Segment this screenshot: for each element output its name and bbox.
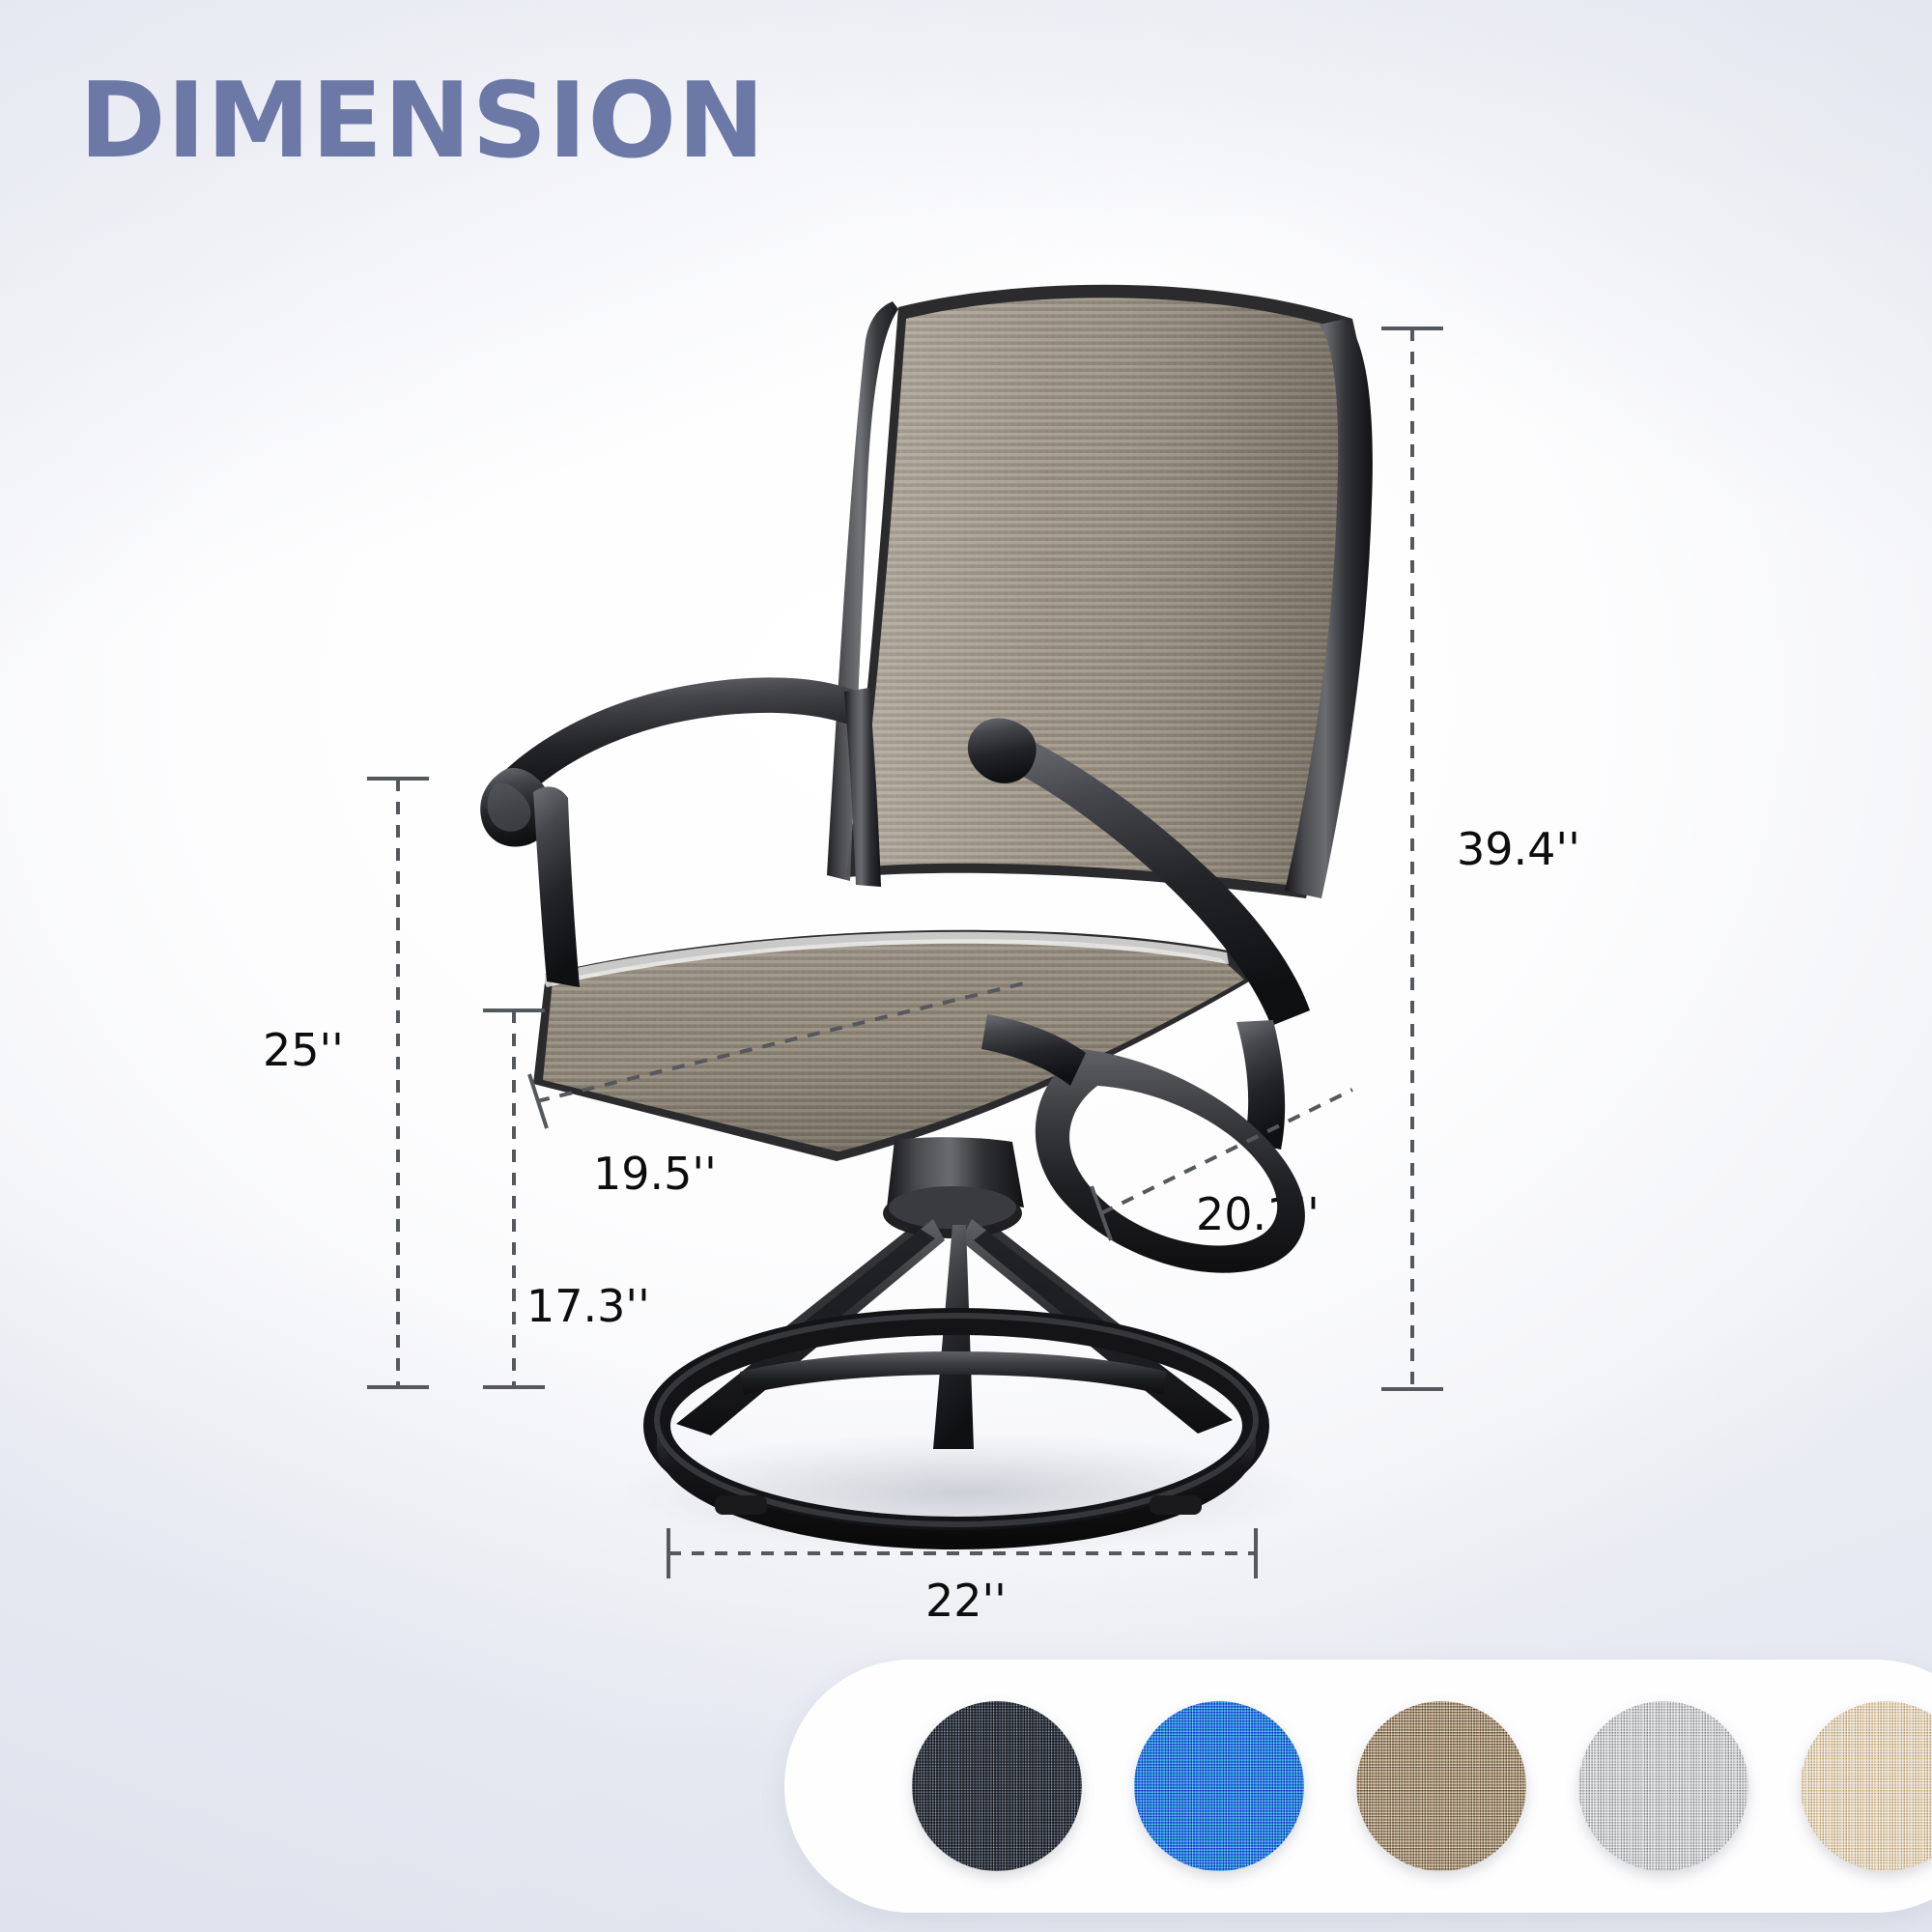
dimension-annotations — [0, 0, 1932, 1932]
blue-fabric[interactable] — [1134, 1701, 1304, 1871]
page-title: DIMENSION — [79, 70, 766, 174]
light-gray-fabric[interactable] — [1578, 1701, 1748, 1871]
dimline-seat-depth — [1101, 1090, 1352, 1213]
color-swatch-panel — [784, 1660, 1932, 1913]
infographic-canvas: DIMENSION — [0, 0, 1932, 1932]
taupe-brown-fabric[interactable] — [1356, 1701, 1526, 1871]
beige-cream-fabric[interactable] — [1801, 1701, 1932, 1871]
charcoal-gray-fabric[interactable] — [912, 1701, 1082, 1871]
dimline-seat-width — [537, 983, 1024, 1101]
color-swatch-row — [784, 1660, 1932, 1913]
